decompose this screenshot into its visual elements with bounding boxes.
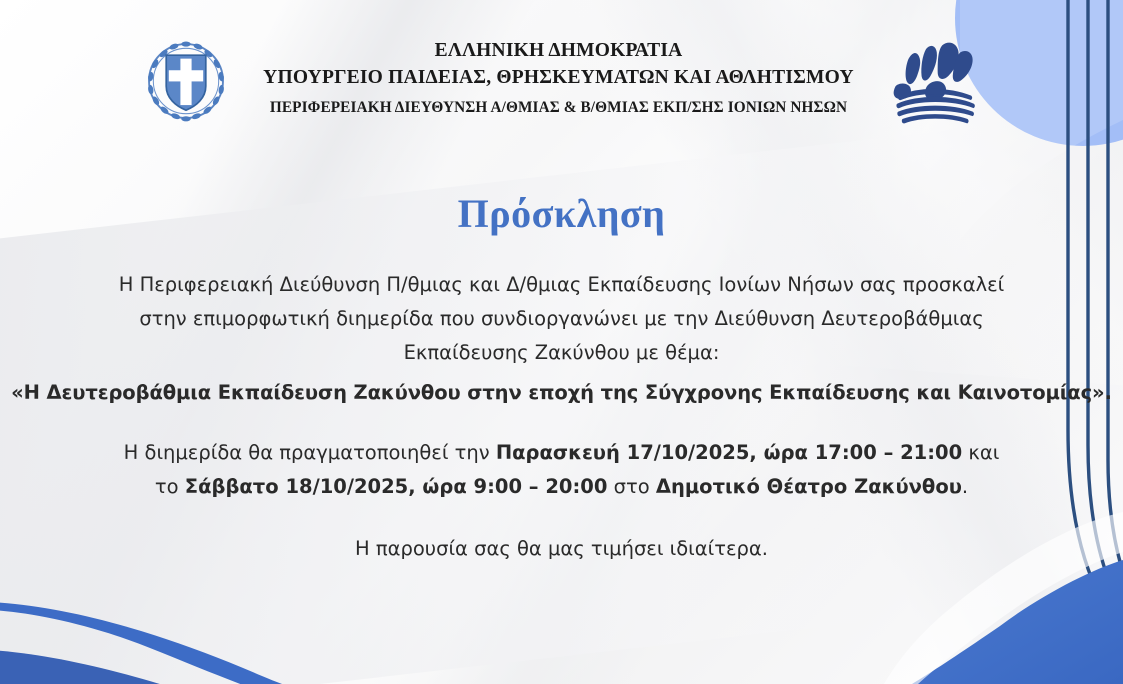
header-line-3: ΠΕΡΙΦΕΡΕΙΑΚΗ ΔΙΕΥΘΥΝΣΗ Α/ΘΜΙΑΣ & Β/ΘΜΙΑΣ…: [239, 98, 879, 118]
closing-line: Η παρουσία σας θα μας τιμήσει ιδιαίτερα.: [0, 532, 1123, 566]
schedule-line-1-post: και: [962, 441, 999, 464]
intro-line-2: στην επιμορφωτική διημερίδα που συνδιοργ…: [0, 302, 1123, 336]
document-header: ΕΛΛΗΝΙΚΗ ΔΗΜΟΚΡΑΤΙΑ ΥΠΟΥΡΓΕΙΟ ΠΑΙΔΕΙΑΣ, …: [0, 36, 1123, 126]
event-theme: «Η Δευτεροβάθμια Εκπαίδευση Ζακύνθου στη…: [0, 376, 1123, 410]
ionian-islands-logo-icon: [889, 40, 981, 126]
header-line-2: ΥΠΟΥΡΓΕΙΟ ΠΑΙΔΕΙΑΣ, ΘΡΗΣΚΕΥΜΑΤΩΝ ΚΑΙ ΑΘΛ…: [239, 65, 879, 90]
schedule-date-friday: Παρασκευή 17/10/2025, ώρα 17:00 – 21:00: [496, 441, 962, 464]
header-text-block: ΕΛΛΗΝΙΚΗ ΔΗΜΟΚΡΑΤΙΑ ΥΠΟΥΡΓΕΙΟ ΠΑΙΔΕΙΑΣ, …: [239, 36, 879, 118]
greek-coat-of-arms-icon: [143, 38, 229, 124]
schedule-date-saturday: Σάββατο 18/10/2025, ώρα 9:00 – 20:00: [185, 475, 608, 498]
page-title: Πρόσκληση: [0, 190, 1123, 237]
schedule-line-1: Η διημερίδα θα πραγματοποιηθεί την Παρασ…: [0, 436, 1123, 470]
venue-name: Δημοτικό Θέατρο Ζακύνθου: [656, 475, 962, 498]
intro-line-1: Η Περιφερειακή Διεύθυνση Π/θμιας και Δ/θ…: [0, 268, 1123, 302]
intro-line-3: Εκπαίδευσης Ζακύνθου με θέμα:: [0, 336, 1123, 370]
invitation-poster: ΕΛΛΗΝΙΚΗ ΔΗΜΟΚΡΑΤΙΑ ΥΠΟΥΡΓΕΙΟ ΠΑΙΔΕΙΑΣ, …: [0, 0, 1123, 684]
invitation-body: Η Περιφερειακή Διεύθυνση Π/θμιας και Δ/θ…: [0, 268, 1123, 566]
schedule-line-2: το Σάββατο 18/10/2025, ώρα 9:00 – 20:00 …: [0, 470, 1123, 504]
schedule-line-2-mid: στο: [607, 475, 655, 498]
schedule-line-2-post: .: [962, 475, 968, 498]
header-line-1: ΕΛΛΗΝΙΚΗ ΔΗΜΟΚΡΑΤΙΑ: [239, 38, 879, 63]
schedule-line-2-pre: το: [155, 475, 185, 498]
schedule-line-1-pre: Η διημερίδα θα πραγματοποιηθεί την: [124, 441, 496, 464]
